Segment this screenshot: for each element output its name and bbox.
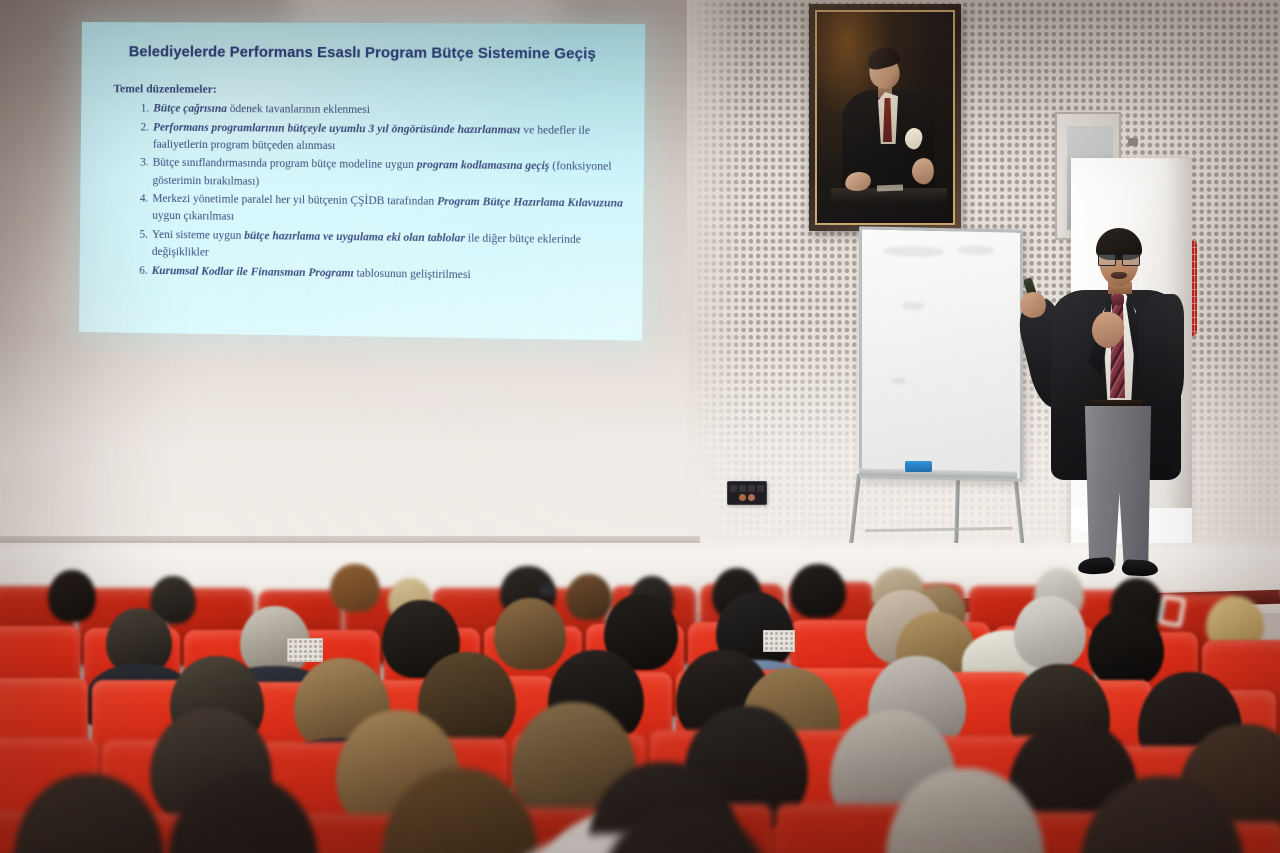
whiteboard-smudge xyxy=(902,302,924,309)
flipchart-whiteboard[interactable] xyxy=(853,228,1031,583)
hair-tie xyxy=(540,584,554,596)
item-number: 6. xyxy=(126,262,148,279)
item-emphasis: Bütçe çağrısına xyxy=(153,102,227,115)
whiteboard-smudge xyxy=(958,245,994,255)
item-emphasis: Kurumsal Kodlar ile Finansman Programı xyxy=(152,265,354,280)
item-emphasis: bütçe hazırlama ve uygulama eki olan tab… xyxy=(244,230,465,245)
presenter-tie-knot xyxy=(1111,294,1124,305)
item-pre: Yeni sisteme uygun xyxy=(152,229,244,242)
item-emphasis: Performans programlarının bütçeyle uyuml… xyxy=(153,121,520,136)
data-jack-3 xyxy=(748,485,755,492)
whiteboard-brace xyxy=(865,527,1013,533)
eyeglass-lens-right xyxy=(1122,254,1140,266)
item-emphasis: Program Bütçe Hazırlama Kılavuzuna xyxy=(437,196,623,210)
presenter xyxy=(1018,228,1188,588)
audience-head xyxy=(330,564,380,612)
audience-head xyxy=(1088,610,1164,686)
item-rest: tablosunun geliştirilmesi xyxy=(354,267,471,281)
slide-bullet-list: 1. Bütçe çağrısına ödenek tavanlarının e… xyxy=(116,100,628,288)
eyeglass-lens-left xyxy=(1098,254,1116,266)
slide-list-item: 1. Bütçe çağrısına ödenek tavanlarının e… xyxy=(117,100,628,121)
portrait-paper xyxy=(877,185,903,192)
audience-head xyxy=(494,598,566,670)
data-jack-1 xyxy=(730,485,737,492)
framed-wall-portrait xyxy=(809,4,961,231)
item-number: 2. xyxy=(127,119,149,136)
wall-vent-center-right xyxy=(763,630,795,652)
hair-clip xyxy=(1158,594,1187,628)
presenter-right-shoulder xyxy=(1138,294,1184,402)
slide-list-item: 3. Bütçe sınıflandırmasında program bütç… xyxy=(116,155,627,194)
round-connector-1 xyxy=(739,494,746,501)
slide-subtitle: Temel düzenlemeler: xyxy=(113,82,217,96)
whiteboard-eraser[interactable] xyxy=(905,461,932,472)
slide-title: Belediyelerde Performans Esaslı Program … xyxy=(82,44,645,63)
wall-vent-center-left xyxy=(287,638,323,662)
slide-list-item: 2. Performans programlarının bütçeyle uy… xyxy=(117,119,628,158)
projected-slide: Belediyelerde Performans Esaslı Program … xyxy=(79,22,645,341)
round-connector-2 xyxy=(748,494,755,501)
whiteboard-surface[interactable] xyxy=(859,226,1023,481)
item-number: 3. xyxy=(127,155,149,172)
item-emphasis: program kodlamasına geçiş xyxy=(417,159,550,172)
wall-jack-panel[interactable] xyxy=(727,481,767,505)
portrait-canvas xyxy=(815,10,955,225)
slide-list-item: 4. Merkezi yönetimle paralel her yıl büt… xyxy=(116,191,627,231)
audience-head xyxy=(566,574,612,620)
item-pre: Merkezi yönetimle paralel her yıl bütçen… xyxy=(152,193,437,208)
audience-head xyxy=(790,564,846,618)
item-rest: ödenek tavanlarının eklenmesi xyxy=(227,103,370,116)
item-number: 4. xyxy=(126,191,148,208)
eyeglasses-icon xyxy=(1098,254,1140,264)
data-jack-4 xyxy=(757,485,764,492)
item-pre: Bütçe sınıflandırmasında program bütçe m… xyxy=(153,157,417,171)
whiteboard-smudge xyxy=(884,246,944,257)
item-number: 1. xyxy=(127,100,149,117)
presenter-mouth xyxy=(1111,272,1127,279)
door-handle[interactable] xyxy=(1128,138,1138,146)
audience-head xyxy=(1014,596,1086,668)
presenter-trousers xyxy=(1082,406,1154,566)
slide-list-item: 5. Yeni sisteme uygun bütçe hazırlama ve… xyxy=(116,226,627,267)
audience-area xyxy=(0,560,1280,853)
acoustic-panel-shading xyxy=(687,0,1280,130)
presentation-photo-scene: Belediyelerde Performans Esaslı Program … xyxy=(0,0,1280,853)
whiteboard-smudge xyxy=(892,378,906,384)
item-number: 5. xyxy=(126,227,148,244)
audience-head xyxy=(48,570,96,622)
data-jack-2 xyxy=(739,485,746,492)
item-rest: uygun çıkarılması xyxy=(152,210,234,223)
